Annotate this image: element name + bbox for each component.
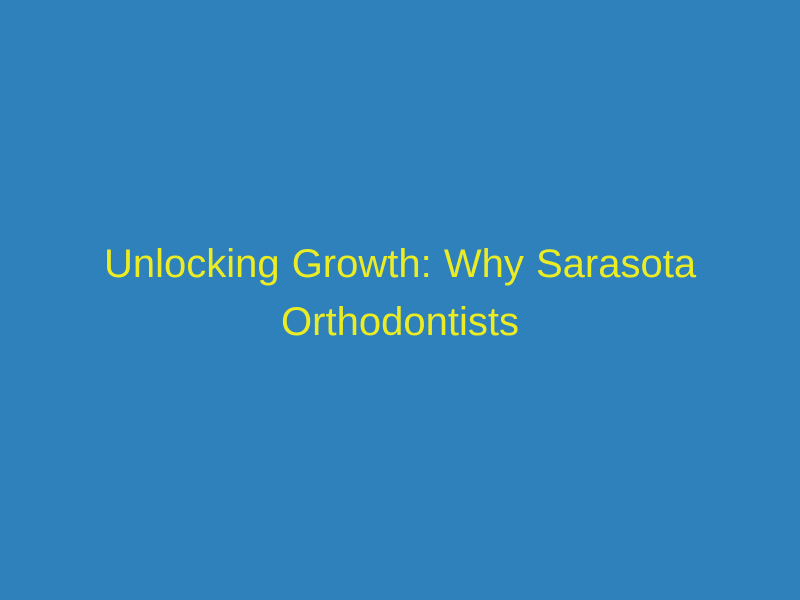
page-title: Unlocking Growth: Why Sarasota Orthodont… — [70, 235, 730, 351]
page-title-text: Unlocking Growth: Why Sarasota Orthodont… — [70, 235, 730, 351]
banner-slide: Unlocking Growth: Why Sarasota Orthodont… — [0, 0, 800, 600]
